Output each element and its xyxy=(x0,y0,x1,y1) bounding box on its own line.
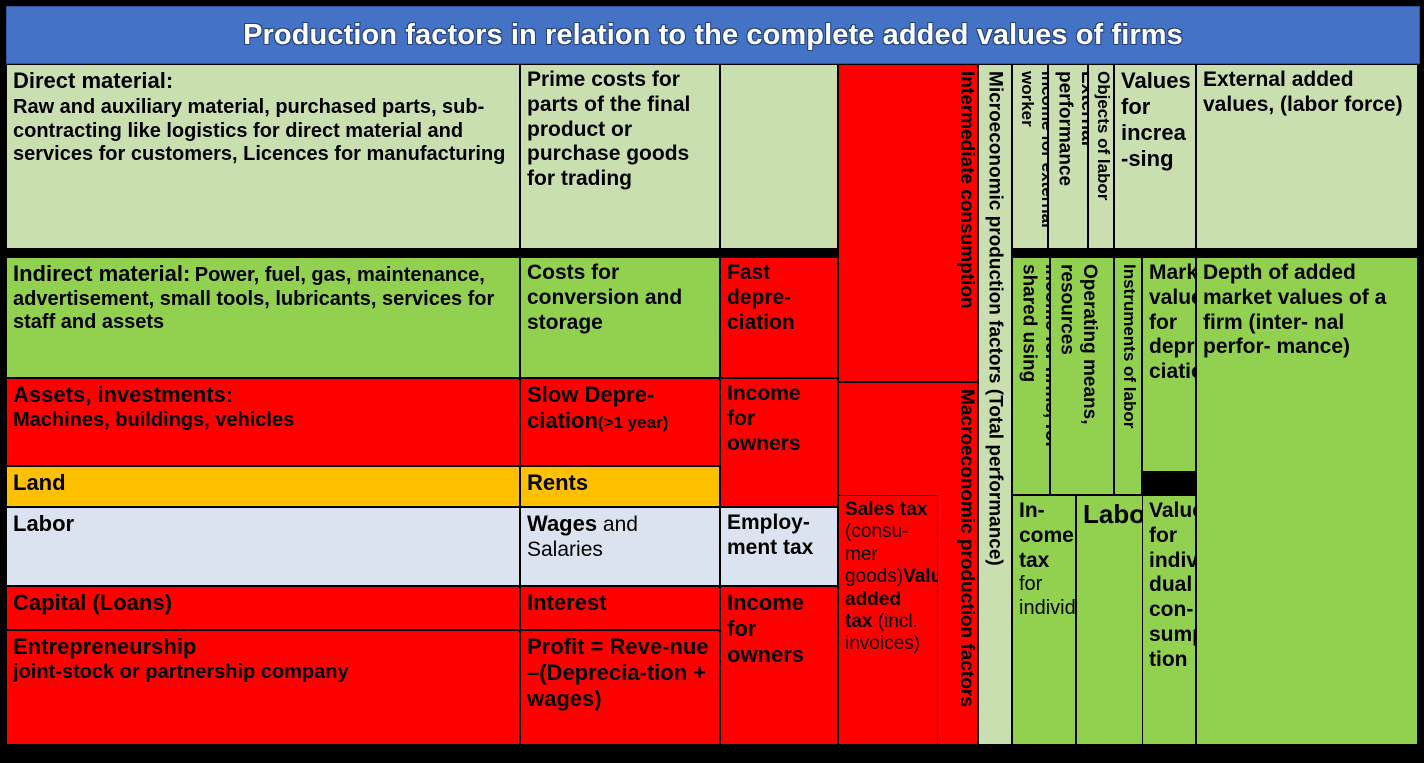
cell-depth-added-market-values: Depth of added market values of a firm (… xyxy=(1196,257,1418,745)
cell-rents: Rents xyxy=(520,466,720,507)
objects-of-labor-label: Objects of labor xyxy=(1089,65,1113,200)
cell-income-tax-individuals: In-come tax for individuals xyxy=(1012,495,1076,745)
income-external-worker-label: Income for external worker xyxy=(1013,65,1048,248)
operating-means-label: Operating means, resources xyxy=(1051,258,1100,494)
cell-sales-tax-vat: Sales tax (consu-mer goods)Value added t… xyxy=(838,495,938,745)
instruments-of-labor-label: Instruments of labor xyxy=(1115,258,1139,428)
income-tax-note: for individuals xyxy=(1019,573,1076,619)
cell-land: Land xyxy=(6,466,520,507)
cell-objects-of-labor: Objects of labor xyxy=(1088,64,1114,249)
cell-capital: Capital (Loans) xyxy=(6,586,520,630)
page-title: Production factors in relation to the co… xyxy=(243,19,1183,52)
external-added-values-label: External added values, (labor force) xyxy=(1203,68,1403,116)
income-for-owners-lower-label: Income for owners xyxy=(727,590,804,667)
external-performance-label: External performance xyxy=(1049,65,1088,248)
diagram-root: Production factors in relation to the co… xyxy=(0,0,1424,763)
wages-label: Wages xyxy=(527,511,597,536)
fast-depreciation-label: Fast depre- ciation xyxy=(727,261,795,334)
cell-values-for-increasing: Values for increa -sing xyxy=(1114,64,1196,249)
land-label: Land xyxy=(13,470,66,495)
depth-added-market-values-label: Depth of added market values of a firm (… xyxy=(1203,261,1386,358)
rents-label: Rents xyxy=(527,470,588,495)
cell-row1-spacer xyxy=(720,64,838,249)
cell-profit-formula: Profit = Reve-nue –(Deprecia-tion + wage… xyxy=(520,630,720,745)
sales-tax-label: Sales tax xyxy=(845,499,927,520)
prime-costs-text: Prime costs for parts of the final produ… xyxy=(527,68,690,190)
cell-costs-conversion: Costs for conversion and storage xyxy=(520,257,720,378)
cell-fast-depreciation: Fast depre- ciation xyxy=(720,257,838,378)
costs-conversion-label: Costs for conversion and storage xyxy=(527,261,682,334)
cell-values-individual-consumption: Values for indivi- dual con- sump- tion xyxy=(1142,495,1196,745)
cell-external-performance: External performance xyxy=(1048,64,1088,249)
cell-labor: Labor xyxy=(6,507,520,586)
cell-external-added-values: External added values, (labor force) xyxy=(1196,64,1418,249)
direct-material-heading: Direct material: xyxy=(13,68,514,94)
title-bar: Production factors in relation to the co… xyxy=(6,6,1420,64)
assets-body: Machines, buildings, vehicles xyxy=(13,409,514,433)
capital-label: Capital (Loans) xyxy=(13,590,172,615)
direct-material-body: Raw and auxiliary material, purchased pa… xyxy=(13,96,514,167)
macroeconomic-label: Macroeconomic production factors xyxy=(951,383,977,745)
cell-indirect-material: Indirect material: Power, fuel, gas, mai… xyxy=(6,257,520,378)
cell-microeconomic: Microeconomic production factors (Total … xyxy=(978,64,1012,745)
entrepreneurship-heading: Entrepreneurship xyxy=(13,634,514,660)
market-values-depreciation-label: Market values for depre- ciation xyxy=(1149,261,1196,383)
cell-market-values-depreciation: Market values for depre- ciation xyxy=(1142,257,1196,472)
microeconomic-label: Microeconomic production factors (Total … xyxy=(979,65,1005,566)
values-for-increasing-label: Values for increa -sing xyxy=(1121,68,1191,171)
income-tax-label: In-come tax xyxy=(1019,499,1074,572)
cell-direct-material: Direct material: Raw and auxiliary mater… xyxy=(6,64,520,249)
intermediate-consumption-label: Intermediate consumption xyxy=(951,65,977,382)
cell-income-external-worker: Income for external worker xyxy=(1012,64,1048,249)
cell-instruments-of-labor: Instruments of labor xyxy=(1114,257,1142,495)
cell-wages-salaries: Wages and Salaries xyxy=(520,507,720,586)
interest-label: Interest xyxy=(527,590,606,615)
income-for-owners-upper-label: Income for owners xyxy=(727,382,801,455)
cell-income-for-owners-lower: Income for owners xyxy=(720,586,838,745)
income-for-firms-label: Income for firms, for shared using xyxy=(1013,258,1050,494)
cell-interest: Interest xyxy=(520,586,720,630)
cell-operating-means: Operating means, resources xyxy=(1050,257,1114,495)
sales-tax-note: (consu-mer goods) xyxy=(845,521,908,587)
slow-depreciation-note: (>1 year) xyxy=(598,413,668,432)
cell-intermediate-consumption: Intermediate consumption xyxy=(838,64,978,382)
cell-employment-tax: Employ- ment tax xyxy=(720,507,838,586)
cell-income-for-owners-upper: Income for owners xyxy=(720,378,838,507)
entrepreneurship-body: joint-stock or partnership company xyxy=(13,661,514,685)
labor-label: Labor xyxy=(13,511,74,536)
cell-income-for-firms: Income for firms, for shared using xyxy=(1012,257,1050,495)
values-individual-consumption-label: Values for indivi- dual con- sump- tion xyxy=(1149,499,1196,671)
cell-slow-depreciation: Slow Depre-ciation(>1 year) xyxy=(520,378,720,466)
profit-formula-label: Profit = Reve-nue –(Deprecia-tion + wage… xyxy=(527,634,709,711)
indirect-material-heading: Indirect material: xyxy=(13,261,190,286)
cell-prime-costs: Prime costs for parts of the final produ… xyxy=(520,64,720,249)
cell-entrepreneurship: Entrepreneurship joint-stock or partners… xyxy=(6,630,520,745)
cell-assets-investments: Assets, investments: Machines, buildings… xyxy=(6,378,520,466)
employment-tax-label: Employ- ment tax xyxy=(727,511,813,559)
assets-heading: Assets, investments: xyxy=(13,382,514,408)
